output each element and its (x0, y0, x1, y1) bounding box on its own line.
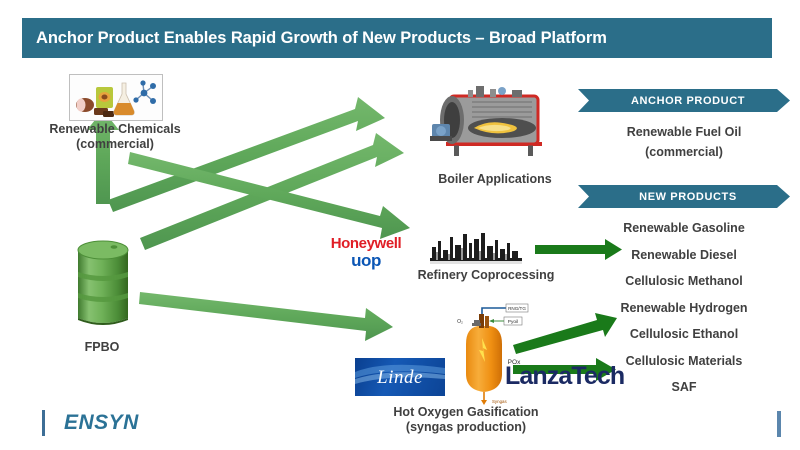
boiler-label: Boiler Applications (404, 172, 586, 187)
anchor-product-list: Renewable Fuel Oil (commercial) (578, 126, 790, 158)
arrow-to-gasification (139, 292, 393, 341)
linde-logo: Linde (355, 358, 445, 396)
honeywell-uop-logo: Honeywell uop (318, 236, 414, 269)
list-item: Cellulosic Ethanol (578, 328, 790, 341)
slide-canvas: Anchor Product Enables Rapid Growth of N… (0, 0, 800, 450)
linde-wordmark: Linde (377, 367, 423, 389)
svg-text:O₂: O₂ (457, 319, 463, 325)
gasifier-diagram: RNG/TG Pyoil O₂ POx Syngas (452, 302, 530, 407)
list-item: Cellulosic Methanol (578, 275, 790, 288)
industrial-boiler-photo (424, 78, 564, 166)
ensyn-logo-bar (42, 410, 45, 436)
anchor-product-banner: ANCHOR PRODUCT (578, 89, 790, 112)
new-products-banner: NEW PRODUCTS (578, 185, 790, 208)
list-item: Renewable Diesel (578, 249, 790, 262)
svg-text:RNG/TG: RNG/TG (508, 306, 526, 311)
honeywell-wordmark: Honeywell (318, 236, 414, 251)
new-products-list: Renewable GasolineRenewable DieselCellul… (578, 222, 790, 408)
green-barrel-icon (72, 238, 134, 330)
gasification-label: Hot Oxygen Gasification (syngas producti… (372, 405, 560, 436)
slide-title-banner: Anchor Product Enables Rapid Growth of N… (22, 18, 772, 58)
refinery-label: Refinery Coprocessing (400, 268, 572, 283)
list-item: Renewable Hydrogen (578, 302, 790, 315)
renewable-chemicals-label: Renewable Chemicals (commercial) (22, 122, 208, 153)
renewable-chemicals-photo (69, 74, 163, 121)
svg-text:Pyoil: Pyoil (508, 319, 518, 325)
fpbo-label: FPBO (52, 340, 152, 355)
svg-text:Syngas: Syngas (492, 399, 507, 404)
list-item: SAF (578, 381, 790, 394)
arrow-to-refinery (128, 152, 410, 239)
list-item: Cellulosic Materials (578, 355, 790, 368)
list-item: (commercial) (578, 146, 790, 159)
refinery-skyline-photo (430, 231, 522, 264)
page-title: Anchor Product Enables Rapid Growth of N… (22, 29, 607, 48)
ensyn-wordmark: ENSYN (64, 411, 139, 435)
ensyn-logo: ENSYN (42, 410, 139, 436)
list-item: Renewable Gasoline (578, 222, 790, 235)
corner-accent-bar (777, 411, 781, 437)
list-item: Renewable Fuel Oil (578, 126, 790, 139)
uop-wordmark: uop (318, 252, 414, 269)
